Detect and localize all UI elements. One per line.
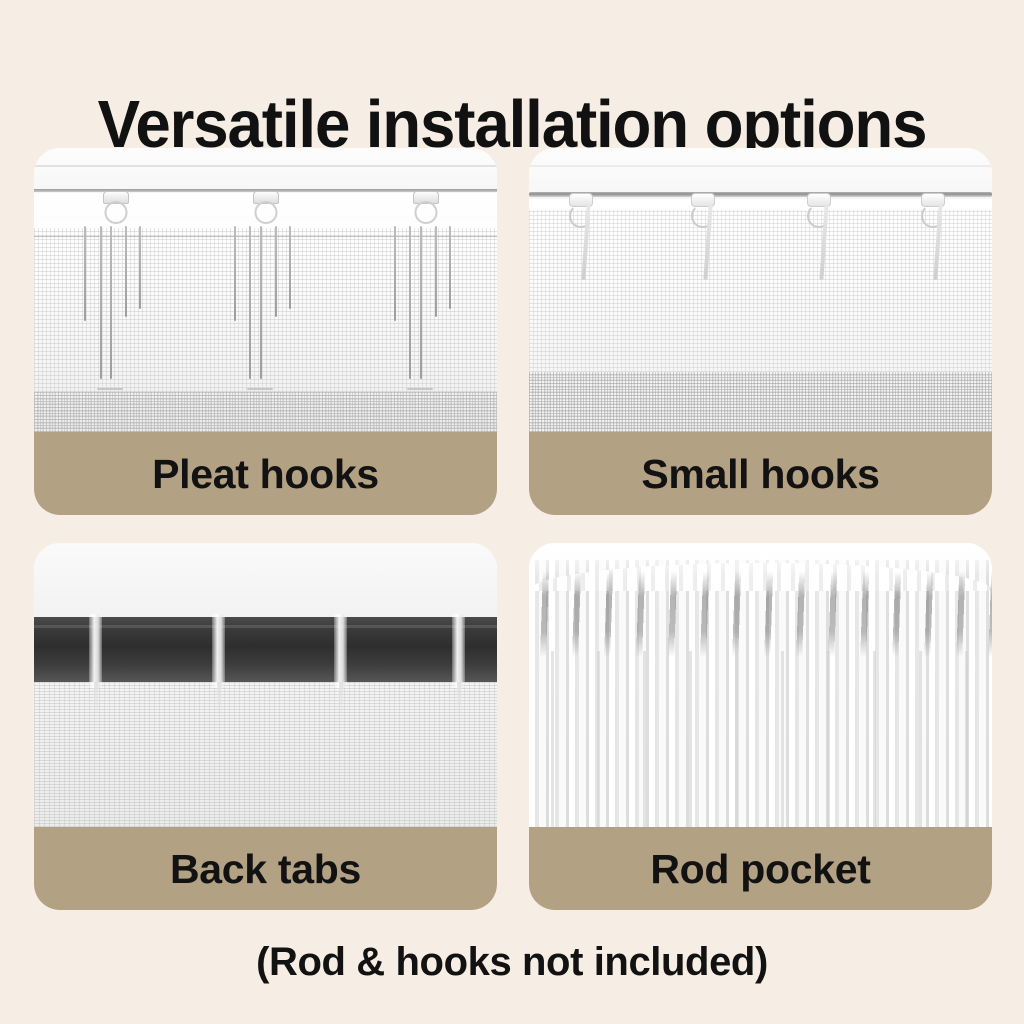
caption-label-rod-pocket: Rod pocket	[650, 847, 870, 891]
pleat-hook-prong	[139, 226, 141, 309]
caption-band-pleat-hooks: Pleat hooks	[34, 432, 497, 515]
back-tab	[452, 614, 465, 688]
caption-band-rod-pocket: Rod pocket	[529, 827, 992, 910]
pleat-hook-prong	[289, 226, 291, 309]
pleat-hook-prong	[100, 226, 102, 379]
pleat-hook-prong	[394, 226, 396, 321]
pleat-hook-prong	[260, 226, 262, 379]
pleat-hook-ring	[105, 201, 128, 224]
rod-highlight	[34, 625, 497, 628]
option-card-rod-pocket[interactable]: Rod pocket	[529, 543, 992, 910]
option-card-small-hooks[interactable]: Small hooks	[529, 148, 992, 515]
ceiling-edge-line	[529, 165, 992, 167]
back-tab	[212, 614, 225, 688]
pleat-hook-prong	[409, 226, 411, 379]
vertical-fold-lines	[529, 651, 992, 827]
fabric-lower-band	[529, 372, 992, 432]
back-tab-drop	[339, 682, 343, 719]
small-hook	[681, 193, 725, 312]
caption-label-small-hooks: Small hooks	[641, 452, 879, 496]
rod-pocket-top-edge	[529, 543, 992, 577]
option-card-pleat-hooks[interactable]: Pleat hooks	[34, 148, 497, 515]
pleat-hook-ring	[255, 201, 278, 224]
pleat-hook-prong	[234, 226, 236, 321]
pleat-hook-prong	[420, 226, 422, 379]
small-hook	[559, 193, 603, 312]
product-infographic: Versatile installation options	[0, 0, 1024, 1024]
pleat-hook-prong	[449, 226, 451, 309]
caption-band-small-hooks: Small hooks	[529, 432, 992, 515]
fabric-weave-texture	[34, 682, 497, 827]
pleat-hook-prong	[84, 226, 86, 321]
wall-surface	[34, 543, 497, 620]
pleat-hook-base	[247, 388, 273, 390]
back-tab-drop	[457, 682, 461, 719]
back-tab-drop	[217, 682, 221, 719]
pleat-hook	[79, 191, 153, 398]
fabric-lower-band	[34, 392, 497, 432]
small-hook	[911, 193, 955, 312]
back-tab	[334, 614, 347, 688]
small-hook	[797, 193, 841, 312]
photo-rod-pocket	[529, 543, 992, 827]
back-tab	[89, 614, 102, 688]
caption-band-back-tabs: Back tabs	[34, 827, 497, 910]
pleat-hook-prong	[275, 226, 277, 317]
caption-label-back-tabs: Back tabs	[170, 847, 361, 891]
ceiling-edge-line	[34, 165, 497, 167]
installation-options-grid: Pleat hooks	[34, 148, 992, 910]
pleat-hook-prong	[110, 226, 112, 379]
pleat-hook-prong	[249, 226, 251, 379]
pleat-hook-base	[97, 388, 123, 390]
caption-label-pleat-hooks: Pleat hooks	[152, 452, 379, 496]
pleat-hook-base	[407, 388, 433, 390]
photo-pleat-hooks	[34, 148, 497, 432]
pleat-hook	[229, 191, 303, 398]
footer-disclaimer: (Rod & hooks not included)	[0, 940, 1024, 984]
pleat-shadows	[529, 571, 992, 656]
pleat-hook-prong	[125, 226, 127, 317]
pleat-hook-prong	[435, 226, 437, 317]
photo-back-tabs	[34, 543, 497, 827]
option-card-back-tabs[interactable]: Back tabs	[34, 543, 497, 910]
back-tab-drop	[94, 682, 98, 719]
pleat-hook-ring	[415, 201, 438, 224]
photo-small-hooks	[529, 148, 992, 432]
pleat-hook	[389, 191, 463, 398]
